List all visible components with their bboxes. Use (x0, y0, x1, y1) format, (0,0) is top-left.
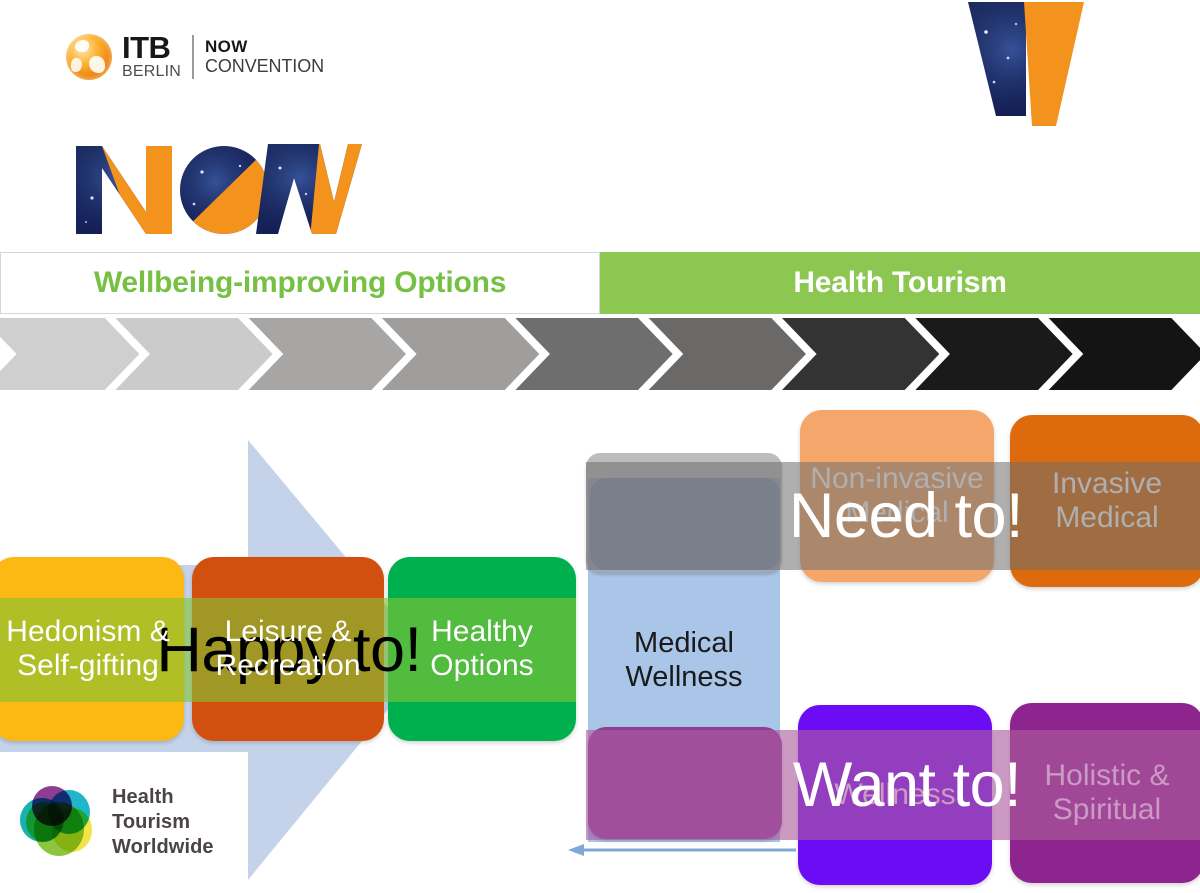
chevron-1 (0, 318, 139, 390)
banner-left-label: Wellbeing-improving Options (94, 266, 506, 300)
htw-blob-icon (18, 782, 98, 862)
card-leisure-label: Leisure & Recreation (192, 615, 384, 683)
card-leisure[interactable]: Leisure & Recreation (192, 557, 384, 741)
card-hedonism[interactable]: Hedonism & Self-gifting (0, 557, 184, 741)
need-to-label: Need to! (756, 465, 1056, 567)
htw-line-2: Tourism (112, 810, 214, 835)
itb-partner-now: NOW (205, 37, 324, 56)
banner-health-tourism: Health Tourism (600, 252, 1200, 314)
slide-canvas: ITB BERLIN NOW CONVENTION (0, 0, 1200, 893)
itb-subtitle: BERLIN (122, 63, 181, 80)
globe-icon (66, 34, 112, 80)
left-arrow-icon (566, 840, 796, 860)
now-logo-watermark (960, 0, 1090, 126)
itb-partner-convention: CONVENTION (205, 56, 324, 76)
itb-title: ITB (122, 33, 181, 63)
health-tourism-worldwide-logo: Health Tourism Worldwide (18, 782, 214, 862)
card-healthy-options-label: Healthy Options (388, 615, 576, 683)
htw-line-1: Health (112, 785, 214, 810)
banner-right-label: Health Tourism (793, 266, 1006, 300)
category-banner: Wellbeing-improving Options Health Touri… (0, 252, 1200, 314)
htw-line-3: Worldwide (112, 835, 214, 860)
want-to-label: Want to! (752, 735, 1062, 835)
card-hedonism-label: Hedonism & Self-gifting (0, 615, 184, 683)
now-wordmark-logo (72, 138, 362, 238)
chevron-gradient-strip (0, 318, 1200, 390)
itb-berlin-logo: ITB BERLIN NOW CONVENTION (66, 33, 324, 80)
banner-wellbeing-options: Wellbeing-improving Options (0, 252, 600, 314)
card-healthy-options[interactable]: Healthy Options (388, 557, 576, 741)
logo-divider (192, 35, 194, 79)
card-medical-wellness-label: Medical Wellness (588, 626, 780, 694)
